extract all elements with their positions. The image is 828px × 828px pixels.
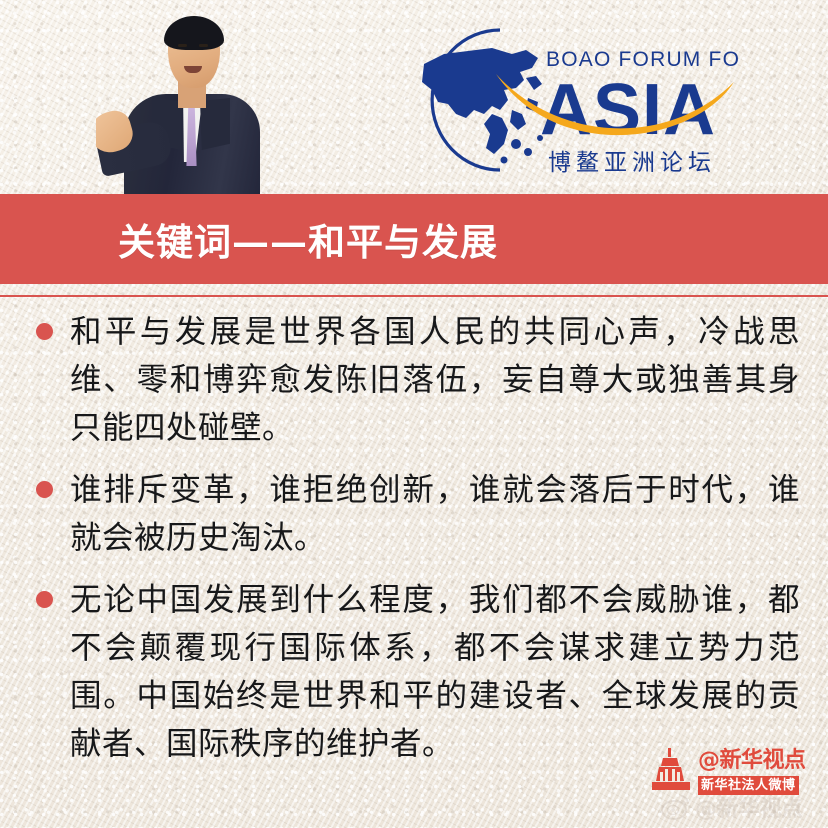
xinhua-tower-icon xyxy=(648,748,694,792)
xinhua-watermark-text-group: @新华视点 新华社法人微博 xyxy=(698,748,820,795)
logo-chinese-text: 博鳌亚洲论坛 xyxy=(548,150,716,176)
bullet-text: 谁排斥变革，谁拒绝创新，谁就会落后于时代，谁就会被历史淘汰。 xyxy=(70,466,800,562)
page-title: 关键词——和平与发展 xyxy=(118,212,498,266)
portrait-eye-right xyxy=(199,44,208,47)
asia-map-shape xyxy=(422,48,543,164)
boao-forum-logo: BOAO FORUM FOR ASIA 博鳌亚洲论坛 xyxy=(408,18,738,178)
bullet-text: 无论中国发展到什么程度，我们都不会威胁谁，都不会颠覆现行国际体系，都不会谋求建立… xyxy=(70,576,800,768)
title-banner: 关键词——和平与发展 xyxy=(0,194,828,284)
weibo-eye-icon xyxy=(660,792,690,822)
bullet-dot-icon xyxy=(36,323,53,340)
list-item: 和平与发展是世界各国人民的共同心声，冷战思维、零和博弈愈发陈旧落伍，妄自尊大或独… xyxy=(0,308,828,452)
bullet-dot-icon xyxy=(36,591,53,608)
portrait-photo xyxy=(96,0,282,194)
xinhua-handle: @新华视点 xyxy=(698,748,820,774)
bullet-dot-icon xyxy=(36,481,53,498)
bullet-list: 和平与发展是世界各国人民的共同心声，冷战思维、零和博弈愈发陈旧落伍，妄自尊大或独… xyxy=(0,308,828,782)
header: BOAO FORUM FOR ASIA 博鳌亚洲论坛 xyxy=(0,0,828,194)
list-item: 无论中国发展到什么程度，我们都不会威胁谁，都不会颠覆现行国际体系，都不会谋求建立… xyxy=(0,576,828,768)
list-item: 谁排斥变革，谁拒绝创新，谁就会落后于时代，谁就会被历史淘汰。 xyxy=(0,466,828,562)
bullet-text: 和平与发展是世界各国人民的共同心声，冷战思维、零和博弈愈发陈旧落伍，妄自尊大或独… xyxy=(70,308,800,452)
weibo-watermark: @新华视点 xyxy=(660,790,828,824)
portrait-hair xyxy=(164,16,224,50)
portrait-eye-left xyxy=(178,44,187,47)
weibo-handle: @新华视点 xyxy=(695,791,803,823)
logo-english-top-text: BOAO FORUM FOR xyxy=(546,48,738,71)
logo-english-main-text: ASIA xyxy=(540,70,716,150)
divider-rule xyxy=(0,295,828,297)
poster-page: BOAO FORUM FOR ASIA 博鳌亚洲论坛 关键词——和平与发展 和平… xyxy=(0,0,828,828)
